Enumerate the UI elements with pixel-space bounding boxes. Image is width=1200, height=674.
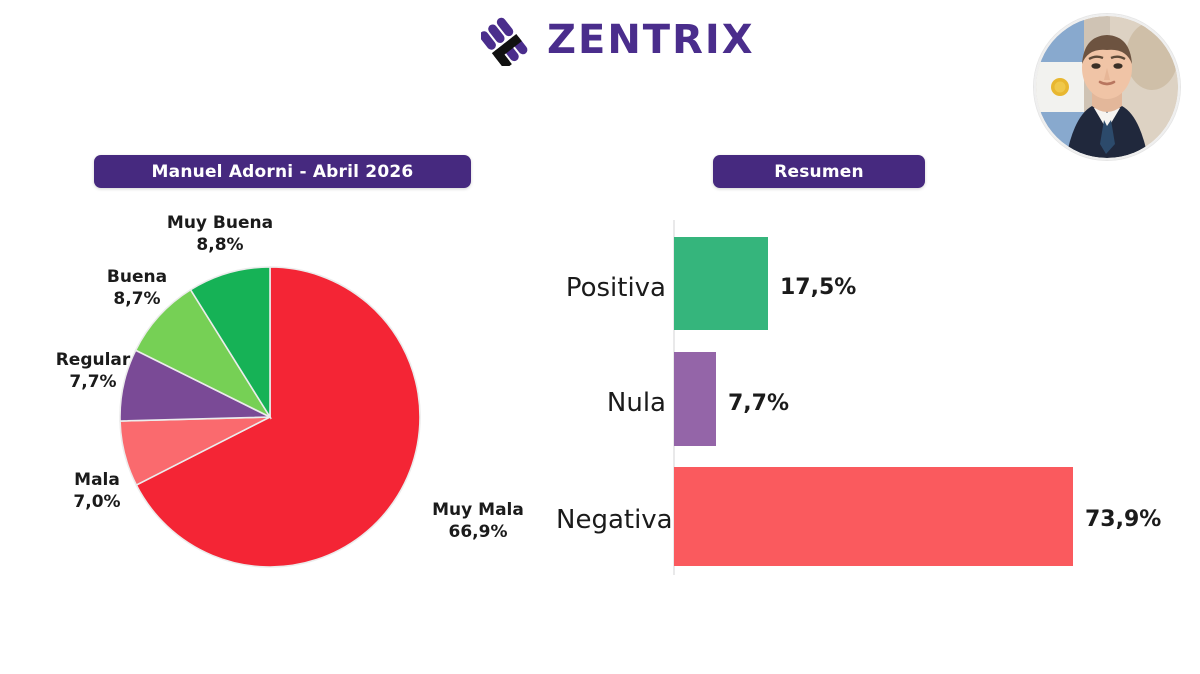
pie-chart: Muy Buena 8,8% Buena 8,7% Regular 7,7% M… (0, 195, 560, 595)
pie-label-muy-mala: Muy Mala 66,9% (415, 500, 541, 544)
pie-label-regular: Regular 7,7% (38, 350, 148, 394)
bar-rect-negativa (674, 467, 1073, 566)
bar-chart-title-badge: Resumen (713, 155, 925, 188)
pie-slice-group (120, 267, 420, 567)
pie-label-muy-buena: Muy Buena 8,8% (160, 213, 280, 257)
bar-category-label: Nula (556, 388, 666, 418)
bar-value-label: 7,7% (728, 391, 789, 416)
zentrix-mark-icon (481, 14, 533, 66)
pie-label-buena: Buena 8,7% (85, 267, 189, 311)
bar-category-label: Positiva (556, 273, 666, 303)
brand-logo: ZENTRIX (481, 14, 755, 66)
bar-chart: Positiva 17,5% Nula 7,7% Negativa 73,9% (556, 215, 1196, 585)
slide-canvas: ZENTRIX (0, 0, 1200, 674)
bar-value-label: 73,9% (1085, 507, 1161, 532)
bar-rect-positiva (674, 237, 768, 330)
bar-rect-nula (674, 352, 716, 446)
bar-category-label: Negativa (556, 505, 666, 535)
pie-chart-title-badge: Manuel Adorni - Abril 2026 (94, 155, 471, 188)
bar-value-label: 17,5% (780, 275, 856, 300)
avatar (1034, 14, 1180, 160)
pie-label-mala: Mala 7,0% (55, 470, 139, 514)
brand-wordmark: ZENTRIX (547, 20, 755, 60)
